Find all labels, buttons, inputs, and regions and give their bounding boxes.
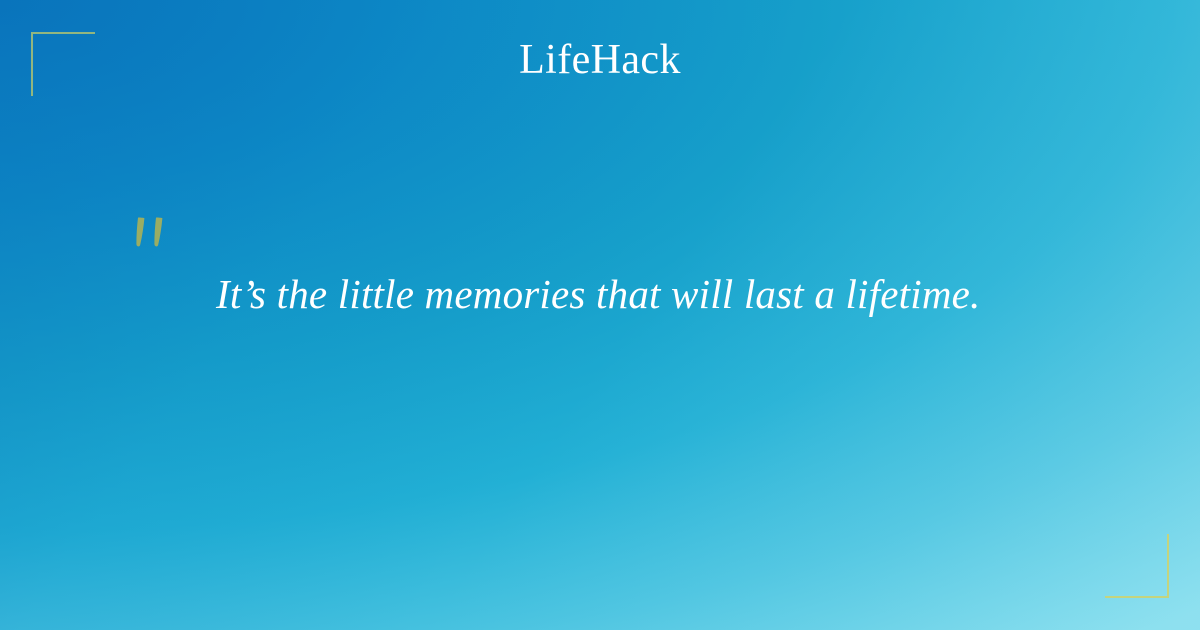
quote-text: It’s the little memories that will last … [130,267,1070,322]
quote-block: It’s the little memories that will last … [130,215,1070,322]
corner-bracket-bottom-right-icon [1105,534,1169,598]
brand-logo: LifeHack [0,37,1200,83]
quote-card: LifeHack It’s the little memories that w… [0,0,1200,630]
double-quote-mark-icon [132,215,176,261]
